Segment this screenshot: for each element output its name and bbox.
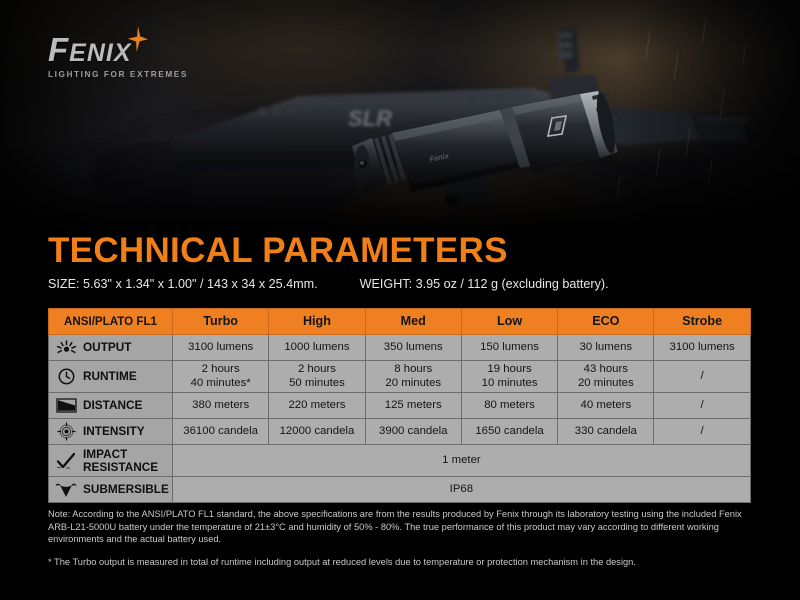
table-row: IMPACTRESISTANCE 1 meter	[49, 445, 751, 477]
table-row: DISTANCE 380 meters 220 meters 125 meter…	[49, 393, 751, 419]
cell-intensity-eco: 330 candela	[558, 419, 654, 445]
cell-output-turbo: 3100 lumens	[173, 335, 269, 361]
clock-icon	[54, 368, 78, 386]
row-label-intensity: INTENSITY	[49, 419, 173, 445]
output-rays-icon	[54, 339, 78, 357]
cell-intensity-high: 12000 candela	[269, 419, 365, 445]
fenix-logo: FENIX LIGHTING FOR EXTREMES	[48, 33, 188, 79]
spec-summary-line: SIZE: 5.63" x 1.34" x 1.00" / 143 x 34 x…	[48, 277, 609, 291]
cell-intensity-turbo: 36100 candela	[173, 419, 269, 445]
cell-submersible-value: IP68	[173, 477, 751, 503]
col-header-standard: ANSI/PLATO FL1	[49, 309, 173, 335]
cell-runtime-high: 2 hours50 minutes	[269, 361, 365, 393]
target-intensity-icon	[54, 423, 78, 441]
row-label-impact-resistance: IMPACTRESISTANCE	[49, 445, 173, 477]
note-asterisk-text: * The Turbo output is measured in total …	[48, 556, 754, 569]
cell-intensity-low: 1650 candela	[461, 419, 557, 445]
col-header-eco: ECO	[558, 309, 654, 335]
cell-runtime-med: 8 hours20 minutes	[365, 361, 461, 393]
table-row: OUTPUT 3100 lumens 1000 lumens 350 lumen…	[49, 335, 751, 361]
cell-output-low: 150 lumens	[461, 335, 557, 361]
col-header-strobe: Strobe	[654, 309, 750, 335]
page-title: TECHNICAL PARAMETERS	[48, 233, 508, 270]
row-label-distance: DISTANCE	[49, 393, 173, 419]
row-label-runtime: RUNTIME	[49, 361, 173, 393]
hero-banner: SLR	[0, 0, 800, 232]
cell-distance-strobe: /	[654, 393, 750, 419]
cell-runtime-low: 19 hours10 minutes	[461, 361, 557, 393]
row-label-text: SUBMERSIBLE	[83, 483, 169, 496]
row-label-submersible: SUBMERSIBLE	[49, 477, 173, 503]
cell-distance-turbo: 380 meters	[173, 393, 269, 419]
row-label-text: RUNTIME	[83, 370, 137, 383]
cell-output-med: 350 lumens	[365, 335, 461, 361]
col-header-med: Med	[365, 309, 461, 335]
logo-letter-f: F	[48, 31, 69, 68]
row-label-text: IMPACTRESISTANCE	[83, 448, 158, 473]
technical-parameters-table: ANSI/PLATO FL1 Turbo High Med Low ECO St…	[48, 308, 751, 503]
cell-distance-eco: 40 meters	[558, 393, 654, 419]
row-label-output: OUTPUT	[49, 335, 173, 361]
water-drop-icon	[54, 481, 78, 499]
logo-tagline: LIGHTING FOR EXTREMES	[48, 69, 188, 79]
table-row: INTENSITY 36100 candela 12000 candela 39…	[49, 419, 751, 445]
table-row: SUBMERSIBLE IP68	[49, 477, 751, 503]
beam-distance-icon	[54, 397, 78, 415]
weight-text: WEIGHT: 3.95 oz / 112 g (excluding batte…	[360, 277, 609, 291]
cell-output-eco: 30 lumens	[558, 335, 654, 361]
cell-runtime-eco: 43 hours20 minutes	[558, 361, 654, 393]
col-header-high: High	[269, 309, 365, 335]
note-main-text: Note: According to the ANSI/PLATO FL1 st…	[48, 509, 742, 544]
technical-parameters-table-wrap: ANSI/PLATO FL1 Turbo High Med Low ECO St…	[48, 308, 750, 503]
col-header-low: Low	[461, 309, 557, 335]
table-row: RUNTIME 2 hours40 minutes* 2 hours50 min…	[49, 361, 751, 393]
row-label-text: DISTANCE	[83, 399, 142, 412]
table-header-row: ANSI/PLATO FL1 Turbo High Med Low ECO St…	[49, 309, 751, 335]
logo-wordmark: FENIX	[48, 33, 188, 66]
row-label-text: INTENSITY	[83, 425, 145, 438]
product-spec-page: SLR	[0, 0, 800, 600]
cell-impact-resistance-value: 1 meter	[173, 445, 751, 477]
footnotes: Note: According to the ANSI/PLATO FL1 st…	[48, 508, 754, 569]
logo-letters-enix: ENIX	[69, 39, 131, 67]
cell-output-strobe: 3100 lumens	[654, 335, 750, 361]
cell-intensity-med: 3900 candela	[365, 419, 461, 445]
cell-distance-low: 80 meters	[461, 393, 557, 419]
cell-distance-high: 220 meters	[269, 393, 365, 419]
cell-runtime-turbo: 2 hours40 minutes*	[173, 361, 269, 393]
cell-runtime-strobe: /	[654, 361, 750, 393]
cell-distance-med: 125 meters	[365, 393, 461, 419]
cell-intensity-strobe: /	[654, 419, 750, 445]
col-header-turbo: Turbo	[173, 309, 269, 335]
star-icon	[127, 26, 149, 52]
row-label-text: OUTPUT	[83, 341, 132, 354]
size-text: SIZE: 5.63" x 1.34" x 1.00" / 143 x 34 x…	[48, 277, 318, 291]
impact-check-icon	[54, 452, 78, 470]
table-body: OUTPUT 3100 lumens 1000 lumens 350 lumen…	[49, 335, 751, 503]
cell-output-high: 1000 lumens	[269, 335, 365, 361]
